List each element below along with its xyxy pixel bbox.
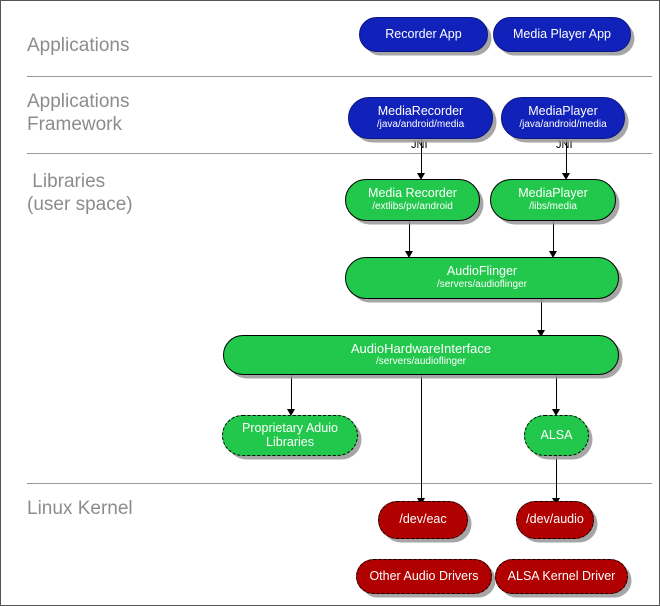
node-media-recorder-lib-path: /extlibs/pv/android <box>372 202 453 213</box>
node-audioflinger-title: AudioFlinger <box>447 265 517 279</box>
connector-ahi-proprietary <box>291 375 292 412</box>
connector-alsa-dev-audio <box>556 456 557 501</box>
node-mediarecorder-framework-path: /java/android/media <box>377 120 464 131</box>
connector-audioflinger-ahi <box>541 299 542 334</box>
node-recorder-app[interactable]: Recorder App <box>359 17 488 52</box>
connector-ahi-alsa <box>556 375 557 412</box>
jni-label-right: JNI <box>556 139 573 151</box>
node-alsa-kernel-driver-title: ALSA Kernel Driver <box>508 570 616 584</box>
layer-label-applications: Applications <box>27 34 129 57</box>
node-dev-eac-title: /dev/eac <box>399 513 446 527</box>
node-proprietary-audio-libraries-line2: Libraries <box>266 436 314 450</box>
divider-framework <box>27 153 652 154</box>
node-dev-eac[interactable]: /dev/eac <box>378 501 468 539</box>
architecture-diagram: Applications Applications Framework Libr… <box>0 0 660 606</box>
node-audiohardwareinterface-title: AudioHardwareInterface <box>351 342 491 356</box>
node-audiohardwareinterface-path: /servers/audioflinger <box>376 357 466 368</box>
node-alsa-title: ALSA <box>541 429 573 443</box>
node-mediaplayer-lib-title: MediaPlayer <box>518 187 587 201</box>
node-alsa-kernel-driver[interactable]: ALSA Kernel Driver <box>495 559 628 594</box>
node-mediaplayer-framework-title: MediaPlayer <box>528 105 597 119</box>
node-dev-audio[interactable]: /dev/audio <box>516 501 594 539</box>
layer-label-linux-kernel: Linux Kernel <box>27 497 133 520</box>
connector-mediarecorder-audioflinger <box>409 221 410 255</box>
node-proprietary-audio-libraries[interactable]: Proprietary Aduio Libraries <box>222 415 358 456</box>
layer-label-libraries: Libraries (user space) <box>27 170 133 216</box>
node-recorder-app-title: Recorder App <box>385 28 461 42</box>
node-media-player-app-title: Media Player App <box>513 28 611 42</box>
node-other-audio-drivers[interactable]: Other Audio Drivers <box>356 559 492 594</box>
connector-ahi-dev-eac <box>421 375 422 501</box>
node-dev-audio-title: /dev/audio <box>526 513 584 527</box>
node-mediaplayer-lib-path: /libs/media <box>529 202 577 213</box>
node-audioflinger[interactable]: AudioFlinger /servers/audioflinger <box>345 257 619 299</box>
node-audioflinger-path: /servers/audioflinger <box>437 280 527 291</box>
node-mediaplayer-framework-path: /java/android/media <box>519 120 606 131</box>
node-media-recorder-lib[interactable]: Media Recorder /extlibs/pv/android <box>345 179 480 221</box>
node-mediarecorder-framework[interactable]: MediaRecorder /java/android/media <box>348 97 493 139</box>
divider-kernel <box>27 483 652 484</box>
node-mediaplayer-lib[interactable]: MediaPlayer /libs/media <box>490 179 616 221</box>
connector-mediaplayer-audioflinger <box>553 221 554 255</box>
node-media-recorder-lib-title: Media Recorder <box>368 187 457 201</box>
node-mediaplayer-framework[interactable]: MediaPlayer /java/android/media <box>501 97 625 139</box>
node-proprietary-audio-libraries-title: Proprietary Aduio <box>242 422 338 436</box>
node-alsa[interactable]: ALSA <box>524 415 589 456</box>
divider-applications <box>27 76 652 77</box>
node-other-audio-drivers-title: Other Audio Drivers <box>369 570 478 584</box>
node-audiohardwareinterface[interactable]: AudioHardwareInterface /servers/audiofli… <box>223 335 619 375</box>
node-mediarecorder-framework-title: MediaRecorder <box>378 105 463 119</box>
jni-label-left: JNI <box>411 139 428 151</box>
node-media-player-app[interactable]: Media Player App <box>493 17 631 52</box>
layer-label-applications-framework: Applications Framework <box>27 90 129 136</box>
